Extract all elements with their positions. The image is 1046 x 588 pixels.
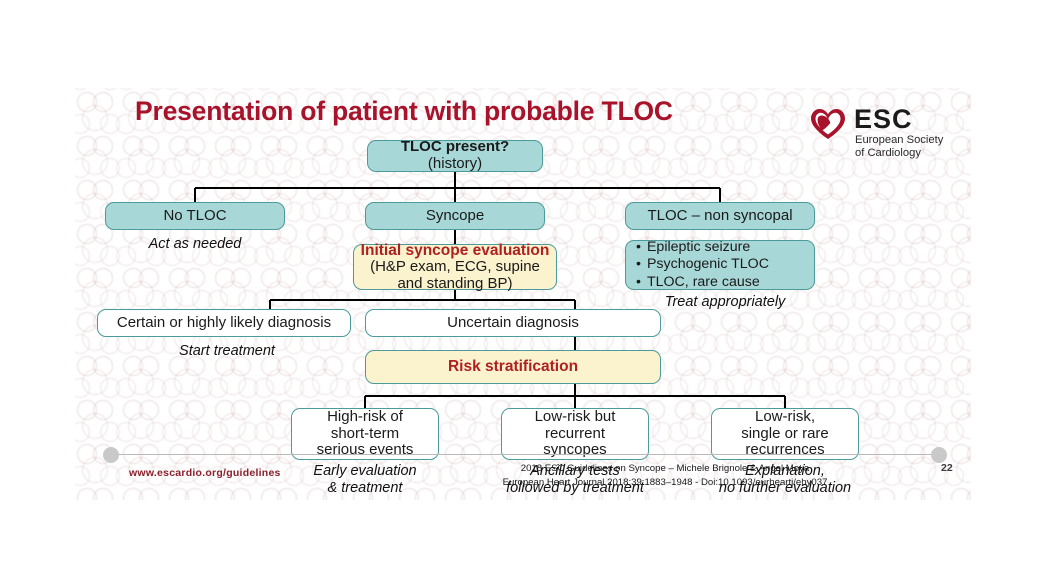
node-initial-evaluation-subtitle-1: (H&P exam, ECG, supine — [361, 259, 550, 276]
footer-dot-left — [103, 447, 119, 463]
footer-dot-right — [931, 447, 947, 463]
node-initial-evaluation[interactable]: Initial syncope evaluation (H&P exam, EC… — [353, 244, 557, 290]
node-high-risk[interactable]: High-risk of short-term serious events — [291, 408, 439, 460]
node-tloc-present-subtitle: (history) — [401, 156, 509, 173]
node-low-risk-recurrent[interactable]: Low-risk but recurrent syncopes — [501, 408, 649, 460]
node-syncope[interactable]: Syncope — [365, 202, 545, 230]
node-low-risk-single-line1: Low-risk, — [741, 409, 829, 426]
list-item: TLOC, rare cause — [636, 274, 806, 291]
node-risk-stratification-label: Risk stratification — [448, 358, 578, 375]
node-tloc-present-title: TLOC present? — [401, 139, 509, 156]
slide-canvas: Presentation of patient with probable TL… — [75, 88, 971, 500]
note-early-evaluation-line2: & treatment — [328, 480, 403, 496]
citation: 2018 ESC Guidelines on Syncope – Michele… — [405, 462, 925, 490]
node-syncope-label: Syncope — [426, 208, 484, 225]
node-high-risk-line3: serious events — [317, 442, 414, 459]
esc-subtitle-line2: of Cardiology — [855, 147, 921, 159]
note-start-treatment: Start treatment — [137, 343, 317, 360]
node-low-risk-recurrent-line2: recurrent — [535, 426, 616, 443]
node-no-tloc[interactable]: No TLOC — [105, 202, 285, 230]
note-treat-appropriately: Treat appropriately — [635, 294, 815, 311]
node-initial-evaluation-subtitle-2: and standing BP) — [361, 276, 550, 293]
node-low-risk-recurrent-line3: syncopes — [535, 442, 616, 459]
node-no-tloc-label: No TLOC — [163, 208, 226, 225]
esc-subtitle-line1: European Society — [855, 134, 943, 146]
node-low-risk-single-line2: single or rare — [741, 426, 829, 443]
node-initial-evaluation-title: Initial syncope evaluation — [361, 242, 550, 259]
node-high-risk-line1: High-risk of — [317, 409, 414, 426]
list-item: Psychogenic TLOC — [636, 256, 806, 273]
node-certain-diagnosis-label: Certain or highly likely diagnosis — [117, 315, 331, 332]
citation-line1: 2018 ESC Guidelines on Syncope – Michele… — [521, 463, 810, 474]
node-uncertain-diagnosis-label: Uncertain diagnosis — [447, 315, 579, 332]
footer-url[interactable]: www.escardio.org/guidelines — [129, 467, 281, 479]
node-low-risk-single[interactable]: Low-risk, single or rare recurrences — [711, 408, 859, 460]
footer-divider — [111, 454, 939, 455]
node-certain-diagnosis[interactable]: Certain or highly likely diagnosis — [97, 309, 351, 337]
node-tloc-non-syncopal[interactable]: TLOC – non syncopal — [625, 202, 815, 230]
node-tloc-present[interactable]: TLOC present? (history) — [367, 140, 543, 172]
node-low-risk-single-line3: recurrences — [741, 442, 829, 459]
node-uncertain-diagnosis[interactable]: Uncertain diagnosis — [365, 309, 661, 337]
node-risk-stratification[interactable]: Risk stratification — [365, 350, 661, 384]
page-title: Presentation of patient with probable TL… — [135, 96, 815, 127]
citation-line2: European Heart Journal 2018;39:1883–1948… — [503, 477, 828, 488]
node-low-risk-recurrent-line1: Low-risk but — [535, 409, 616, 426]
note-early-evaluation-line1: Early evaluation — [313, 463, 416, 479]
node-non-syncopal-causes[interactable]: Epileptic seizure Psychogenic TLOC TLOC,… — [625, 240, 815, 290]
esc-logo: ESC European Society of Cardiology — [810, 106, 970, 162]
node-high-risk-line2: short-term — [317, 426, 414, 443]
page-number: 22 — [941, 462, 953, 474]
list-item: Epileptic seizure — [636, 239, 806, 256]
heart-icon — [810, 108, 846, 140]
note-act-as-needed: Act as needed — [115, 236, 275, 253]
node-tloc-non-syncopal-label: TLOC – non syncopal — [647, 208, 792, 225]
esc-abbreviation: ESC — [854, 104, 913, 135]
